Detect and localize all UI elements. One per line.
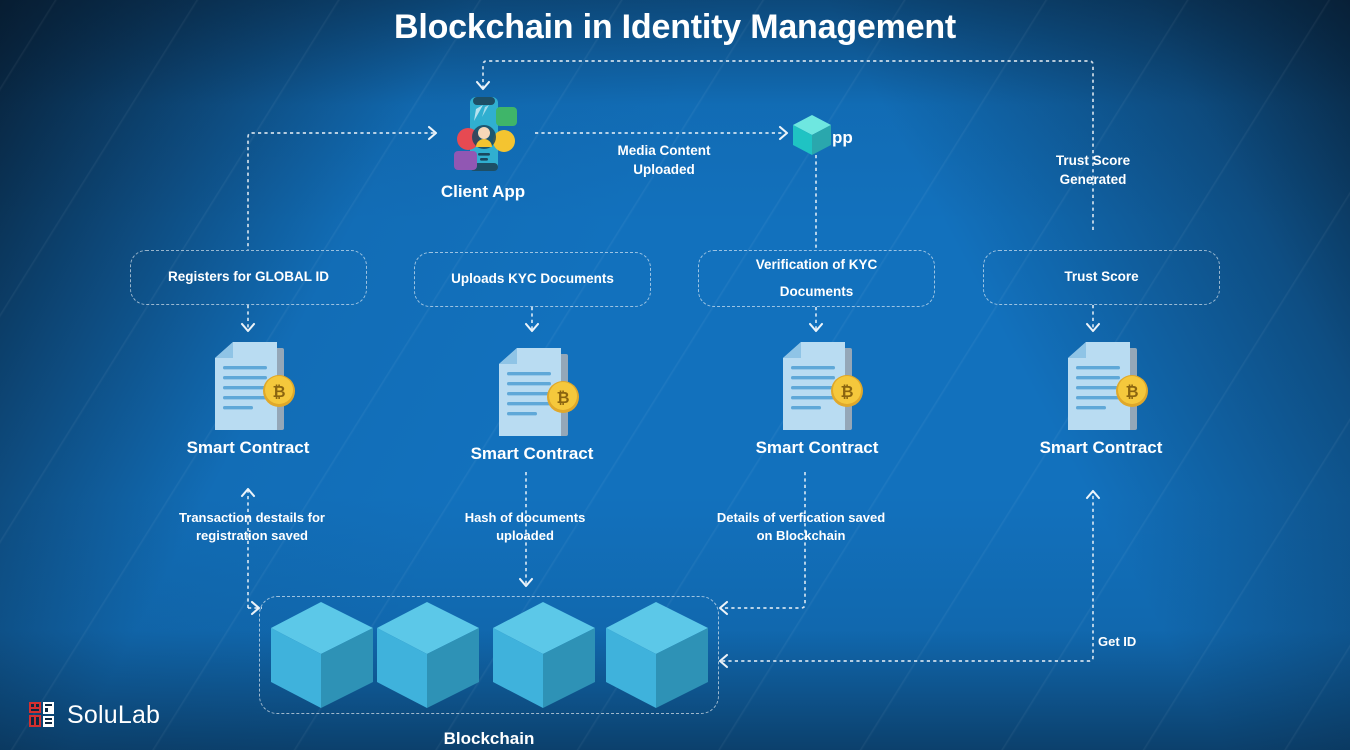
client-app-label: Client App <box>403 180 563 204</box>
flow-label-2-line2: uploaded <box>435 527 615 545</box>
svg-text:₿: ₿ <box>840 382 853 401</box>
smart-contract-document-icon-2: ₿ <box>491 346 587 444</box>
flow-label-transaction-details: Transaction destails for registration sa… <box>152 509 352 546</box>
trust-generated-line1: Trust Score <box>1003 151 1183 170</box>
blockchain-blocks <box>265 598 715 712</box>
get-id-edge-label: Get ID <box>1098 633 1168 651</box>
flow-label-1-line1: Transaction destails for <box>152 509 352 527</box>
stage-box-trust[interactable]: Trust Score <box>983 250 1220 305</box>
teal-cube-icon <box>789 112 835 158</box>
stage-box-registers[interactable]: Registers for GLOBAL ID <box>130 250 367 305</box>
smart-contract-document-icon-4: ₿ <box>1060 340 1156 438</box>
block-4 <box>606 602 708 708</box>
stage-box-uploads[interactable]: Uploads KYC Documents <box>414 252 651 307</box>
smart-contract-label-4: Smart Contract <box>1021 436 1181 460</box>
stage-box-verification-line2: Documents <box>780 279 854 305</box>
smart-contract-label-1: Smart Contract <box>168 436 328 460</box>
blockchain-label: Blockchain <box>409 727 569 750</box>
smart-contract-label-2: Smart Contract <box>452 442 612 466</box>
page-title: Blockchain in Identity Management <box>0 8 1350 47</box>
diagram-canvas: Blockchain in Identity Management .dl{fi… <box>0 0 1350 750</box>
flow-label-3-line2: on Blockchain <box>690 527 912 545</box>
solulab-logo-icon <box>28 700 58 730</box>
stage-box-uploads-label: Uploads KYC Documents <box>451 266 614 292</box>
client-app-icon <box>440 95 528 173</box>
block-1 <box>271 602 373 708</box>
flow-label-3-line1: Details of verfication saved <box>690 509 912 527</box>
block-2 <box>377 602 479 708</box>
flow-label-details-of-verification: Details of verfication saved on Blockcha… <box>690 509 912 546</box>
trust-score-generated-label: Trust Score Generated <box>1003 151 1183 189</box>
flow-label-2-line1: Hash of documents <box>435 509 615 527</box>
flow-label-hash-of-documents: Hash of documents uploaded <box>435 509 615 546</box>
svg-text:₿: ₿ <box>556 388 569 407</box>
svg-text:₿: ₿ <box>272 382 285 401</box>
brand-name: SoluLab <box>67 701 160 730</box>
svg-text:₿: ₿ <box>1125 382 1138 401</box>
stage-box-verification[interactable]: Verification of KYC Documents <box>698 250 935 307</box>
media-content-line1: Media Content <box>574 141 754 160</box>
cube-label-pp: pp <box>832 126 872 150</box>
smart-contract-label-3: Smart Contract <box>737 436 897 460</box>
media-content-line2: Uploaded <box>574 160 754 179</box>
smart-contract-document-icon-1: ₿ <box>207 340 303 438</box>
flow-label-1-line2: registration saved <box>152 527 352 545</box>
stage-box-verification-line1: Verification of KYC <box>756 252 878 278</box>
stage-box-trust-label: Trust Score <box>1064 264 1138 290</box>
block-3 <box>493 602 595 708</box>
smart-contract-document-icon-3: ₿ <box>775 340 871 438</box>
trust-generated-line2: Generated <box>1003 170 1183 189</box>
media-content-edge-label: Media Content Uploaded <box>574 141 754 179</box>
brand-logo[interactable]: SoluLab <box>28 700 160 730</box>
stage-box-registers-label: Registers for GLOBAL ID <box>168 264 329 290</box>
